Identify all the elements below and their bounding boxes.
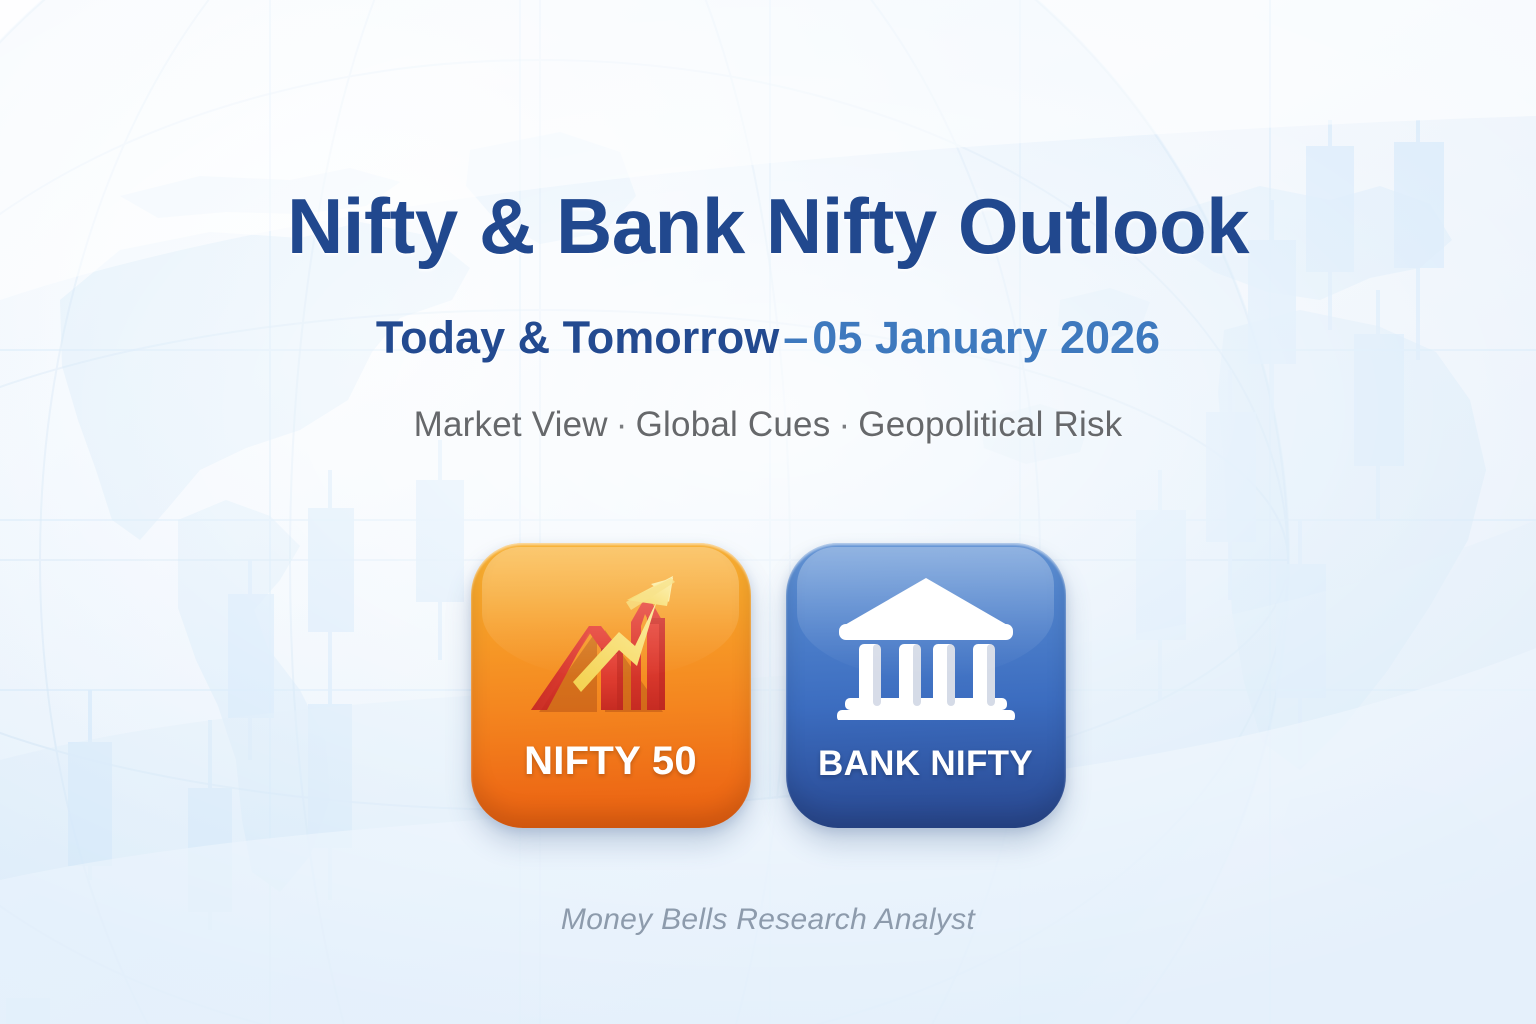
tagline: Market View·Global Cues·Geopolitical Ris… (0, 405, 1536, 445)
tagline-item-geopolitical-risk: Geopolitical Risk (858, 405, 1122, 444)
tagline-separator-2: · (830, 405, 858, 444)
subtitle-line: Today & Tomorrow–05 January 2026 (0, 312, 1536, 364)
footer-credit: Money Bells Research Analyst (0, 903, 1536, 937)
rising-chart-arrow-icon (471, 567, 751, 722)
poster-canvas: Nifty & Bank Nifty Outlook Today & Tomor… (0, 0, 1536, 1024)
poster-content: Nifty & Bank Nifty Outlook Today & Tomor… (0, 0, 1536, 1024)
badge-label-nifty-50: NIFTY 50 (471, 739, 751, 784)
subtitle-dash: – (779, 312, 812, 363)
page-title: Nifty & Bank Nifty Outlook (0, 186, 1536, 268)
subtitle-main: Today & Tomorrow (376, 312, 779, 363)
tagline-item-global-cues: Global Cues (636, 405, 831, 444)
bank-building-icon (786, 567, 1066, 722)
index-badge-group: NIFTY 50 (0, 543, 1536, 828)
tagline-separator-1: · (608, 405, 636, 444)
badge-label-bank-nifty: BANK NIFTY (786, 744, 1066, 784)
badge-nifty-50[interactable]: NIFTY 50 (471, 543, 751, 828)
tagline-item-market-view: Market View (414, 405, 608, 444)
badge-bank-nifty[interactable]: BANK NIFTY (786, 543, 1066, 828)
subtitle-date: 05 January 2026 (812, 312, 1160, 363)
